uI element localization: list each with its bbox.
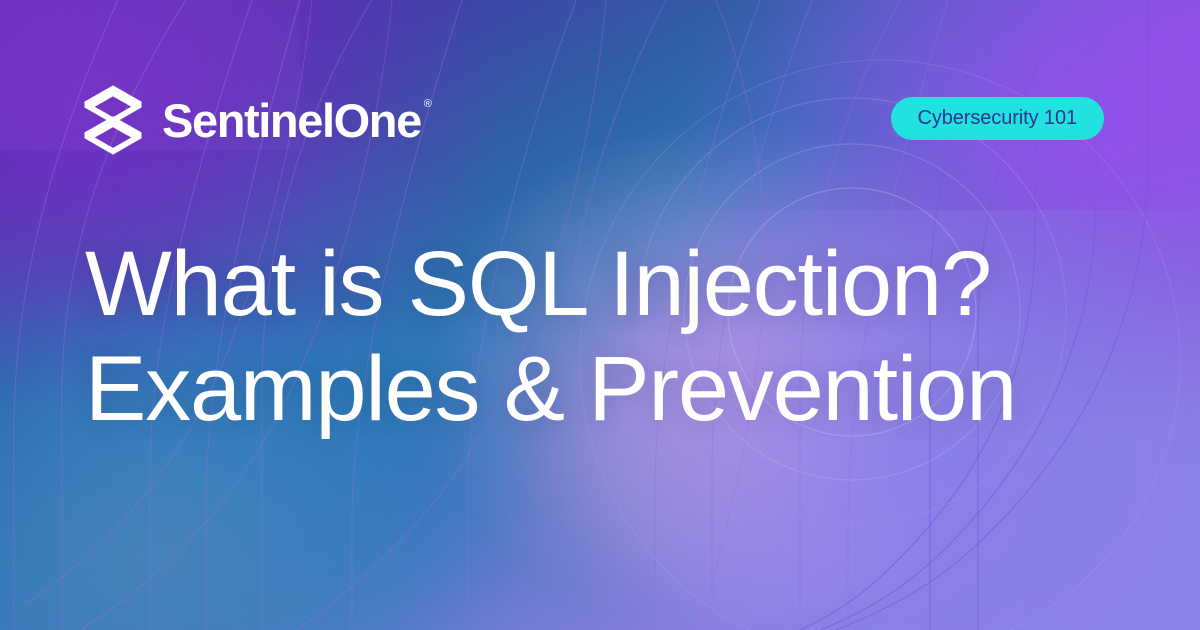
sentinelone-logo[interactable]: SentinelOne® [82,84,421,156]
page-title: What is SQL Injection? Examples & Preven… [85,232,1016,442]
social-card-banner: SentinelOne® Cybersecurity 101 What is S… [0,0,1200,630]
page-title-line-2: Examples & Prevention [85,337,1016,442]
category-badge-label: Cybersecurity 101 [918,107,1077,129]
page-title-line-1: What is SQL Injection? [85,232,1016,337]
registered-trademark-icon: ® [424,99,432,110]
sentinelone-wordmark-text: SentinelOne [162,94,421,147]
category-badge[interactable]: Cybersecurity 101 [891,97,1104,140]
sentinelone-wordmark: SentinelOne® [162,97,421,144]
sentinelone-hex-logo-icon [82,84,144,156]
